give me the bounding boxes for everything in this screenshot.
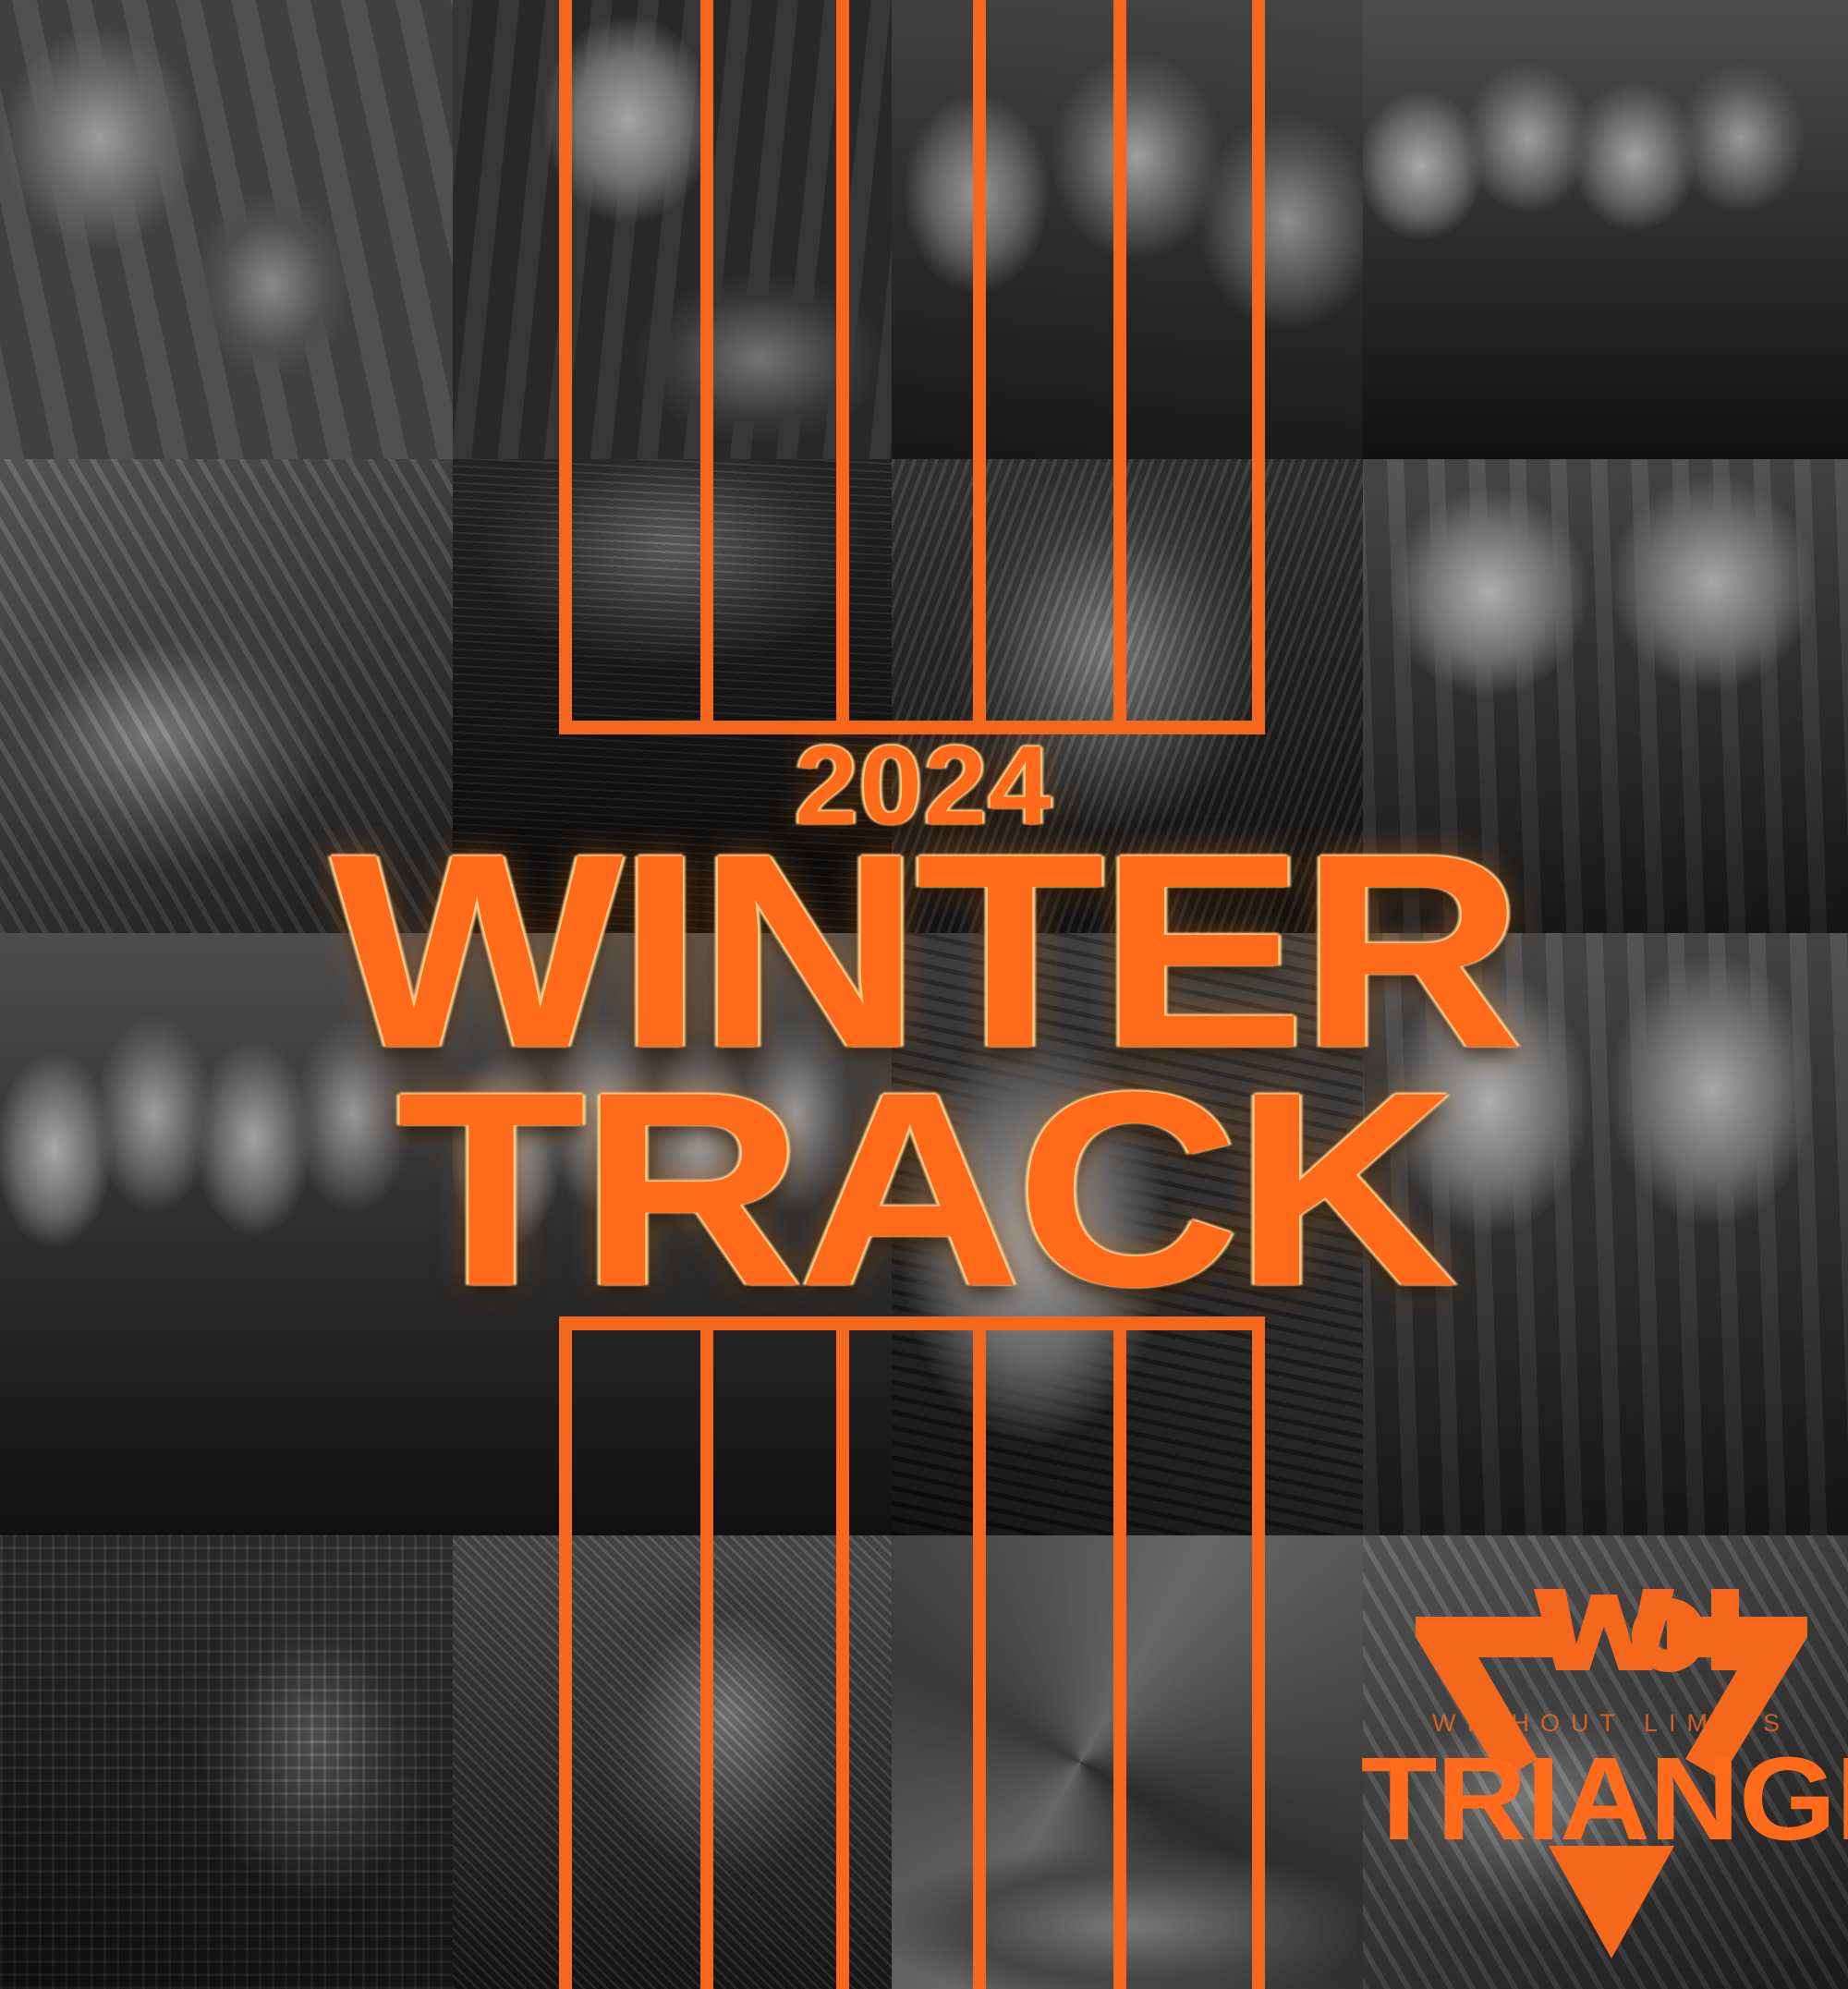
frame-vertical-bar-6 [1252,1316,1265,1989]
frame-vertical-bar-1 [559,0,572,734]
wol-triangle-logo: WITHOUT LIMITS TRIANGLE [1375,1541,1848,1984]
frame-vertical-bar-2 [700,0,713,734]
frame-horizontal-cap [559,1316,1265,1330]
poster-canvas: 2024 WINTER TRACK WITHOUT LIMITS TRIANGL… [0,0,1848,1989]
frame-vertical-bar-6 [1252,0,1265,734]
frame-vertical-bar-2 [700,1316,713,1989]
frame-vertical-bar-1 [559,1316,572,1989]
frame-vertical-bar-5 [1113,1316,1126,1989]
frame-vertical-bar-3 [836,0,849,734]
frame-vertical-bar-5 [1113,0,1126,734]
frame-horizontal-cap [559,721,1265,734]
frame-vertical-bar-3 [836,1316,849,1989]
logo-wordmark: TRIANGLE [1361,1740,1848,1859]
orange-frame-top [0,0,1848,734]
frame-vertical-bar-4 [973,0,986,734]
frame-vertical-bar-4 [973,1316,986,1989]
